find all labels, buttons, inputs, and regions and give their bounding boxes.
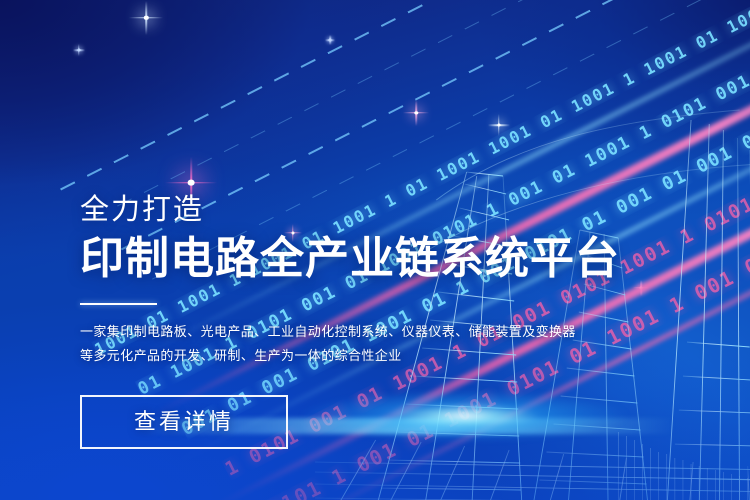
description-block: 一家集印制电路板、光电产品、工业自动化控制系统、仪器仪表、储能装置及变换器 等多…: [80, 320, 680, 369]
eyebrow-text: 全力打造: [80, 196, 680, 225]
banner-content: 全力打造 印制电路全产业链系统平台 一家集印制电路板、光电产品、工业自动化控制系…: [80, 196, 680, 449]
description-line-1: 一家集印制电路板、光电产品、工业自动化控制系统、仪器仪表、储能装置及变换器: [80, 320, 680, 345]
description-line-2: 等多元化产品的开发、研制、生产为一体的综合性企业: [80, 344, 680, 369]
view-details-button[interactable]: 查看详情: [80, 395, 288, 449]
hero-banner: 1001 01 1001 1 1001 01 1001 1 01 1001 10…: [0, 0, 750, 500]
page-title: 印制电路全产业链系统平台: [80, 236, 680, 282]
title-divider: [80, 303, 157, 305]
